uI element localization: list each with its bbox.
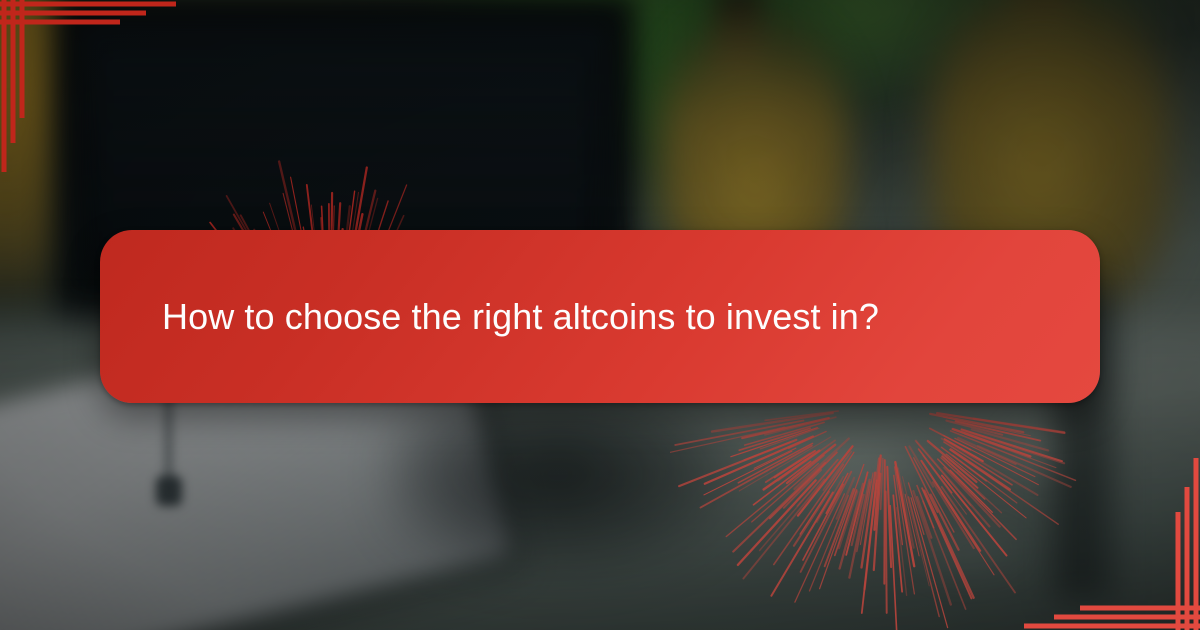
headline-banner: How to choose the right altcoins to inve… xyxy=(100,230,1100,403)
social-card: How to choose the right altcoins to inve… xyxy=(0,0,1200,630)
headline-text: How to choose the right altcoins to inve… xyxy=(162,294,879,339)
